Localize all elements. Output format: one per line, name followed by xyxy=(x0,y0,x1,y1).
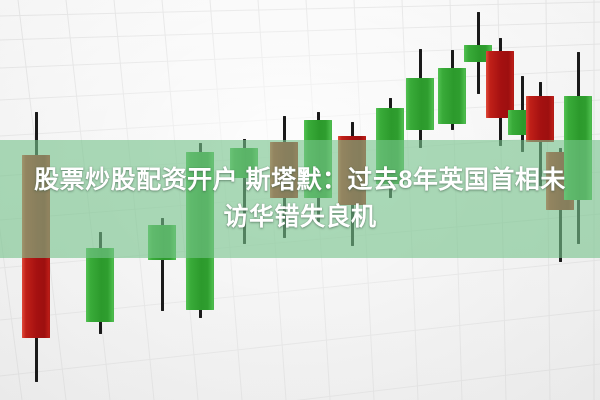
candle-body-up xyxy=(376,108,404,184)
candle-body-down xyxy=(270,142,298,198)
candle-9 xyxy=(406,0,434,400)
candle-10 xyxy=(438,0,466,400)
candle-6 xyxy=(304,0,332,400)
candle-body-up xyxy=(230,148,258,178)
candle-5 xyxy=(270,0,298,400)
candle-16 xyxy=(564,0,592,400)
candle-body-down xyxy=(338,136,366,205)
candle-body-up xyxy=(86,248,114,322)
candle-4 xyxy=(230,0,258,400)
candle-2 xyxy=(148,0,176,400)
candlestick-chart xyxy=(0,0,600,400)
candle-body-up xyxy=(148,225,176,260)
candle-body-up xyxy=(438,68,466,124)
candlestick-headline-image: 股票炒股配资开户 斯塔默：过去8年英国首相未 访华错失良机 xyxy=(0,0,600,400)
candle-8 xyxy=(376,0,404,400)
candle-7 xyxy=(338,0,366,400)
candle-body-down xyxy=(22,155,50,338)
candle-3 xyxy=(186,0,214,400)
candle-body-up xyxy=(406,78,434,130)
candle-0 xyxy=(22,0,50,400)
candle-1 xyxy=(86,0,114,400)
candle-body-up xyxy=(564,96,592,200)
candle-body-up xyxy=(186,152,214,310)
candle-body-up xyxy=(304,120,332,198)
